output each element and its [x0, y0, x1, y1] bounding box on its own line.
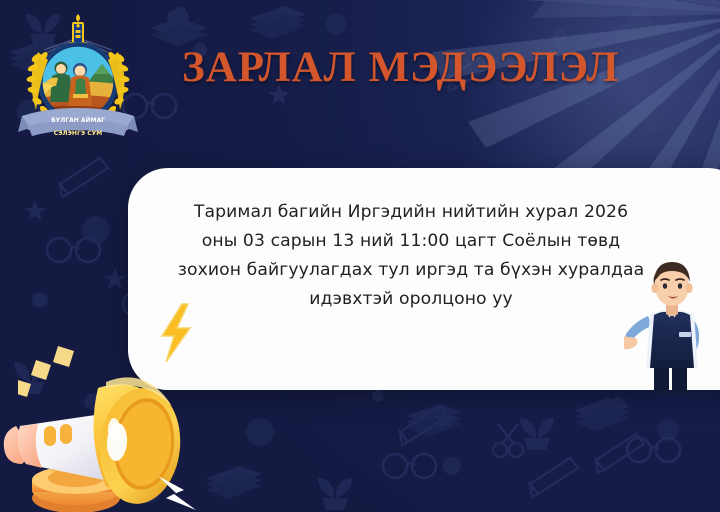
lightning-bolt-icon	[158, 476, 196, 510]
announcement-line-4: идэвхтэй оролцоно уу	[146, 285, 676, 314]
soyombo-finial	[69, 14, 87, 46]
presenter-character-icon	[624, 252, 720, 394]
lightning-bolt-icon	[156, 302, 204, 364]
announcement-line-3: зохион байгуулагдах тул иргэд та бүхэн х…	[146, 256, 676, 285]
province-emblem: БУЛГАН АЙМАГ СЭЛЭНГЭ СУМ	[14, 12, 142, 152]
emblem-banner-line-2: СЭЛЭНГЭ СУМ	[54, 130, 103, 137]
emblem-banner-line-1: БУЛГАН АЙМАГ	[51, 116, 105, 124]
open-palm-hand	[624, 336, 638, 349]
announcement-text: Таримал багийн Иргэдийн нийтийн хурал 20…	[146, 198, 676, 314]
page-title: ЗАРЛАЛ МЭДЭЭЛЭЛ	[182, 46, 619, 89]
announcement-line-2: оны 03 сарын 13 ний 11:00 цагт Соёлын тө…	[146, 227, 676, 256]
announcement-poster: БУЛГАН АЙМАГ СЭЛЭНГЭ СУМ ЗАРЛАЛ МЭДЭЭЛЭЛ…	[0, 0, 720, 512]
announcement-line-1: Таримал багийн Иргэдийн нийтийн хурал 20…	[146, 198, 676, 227]
